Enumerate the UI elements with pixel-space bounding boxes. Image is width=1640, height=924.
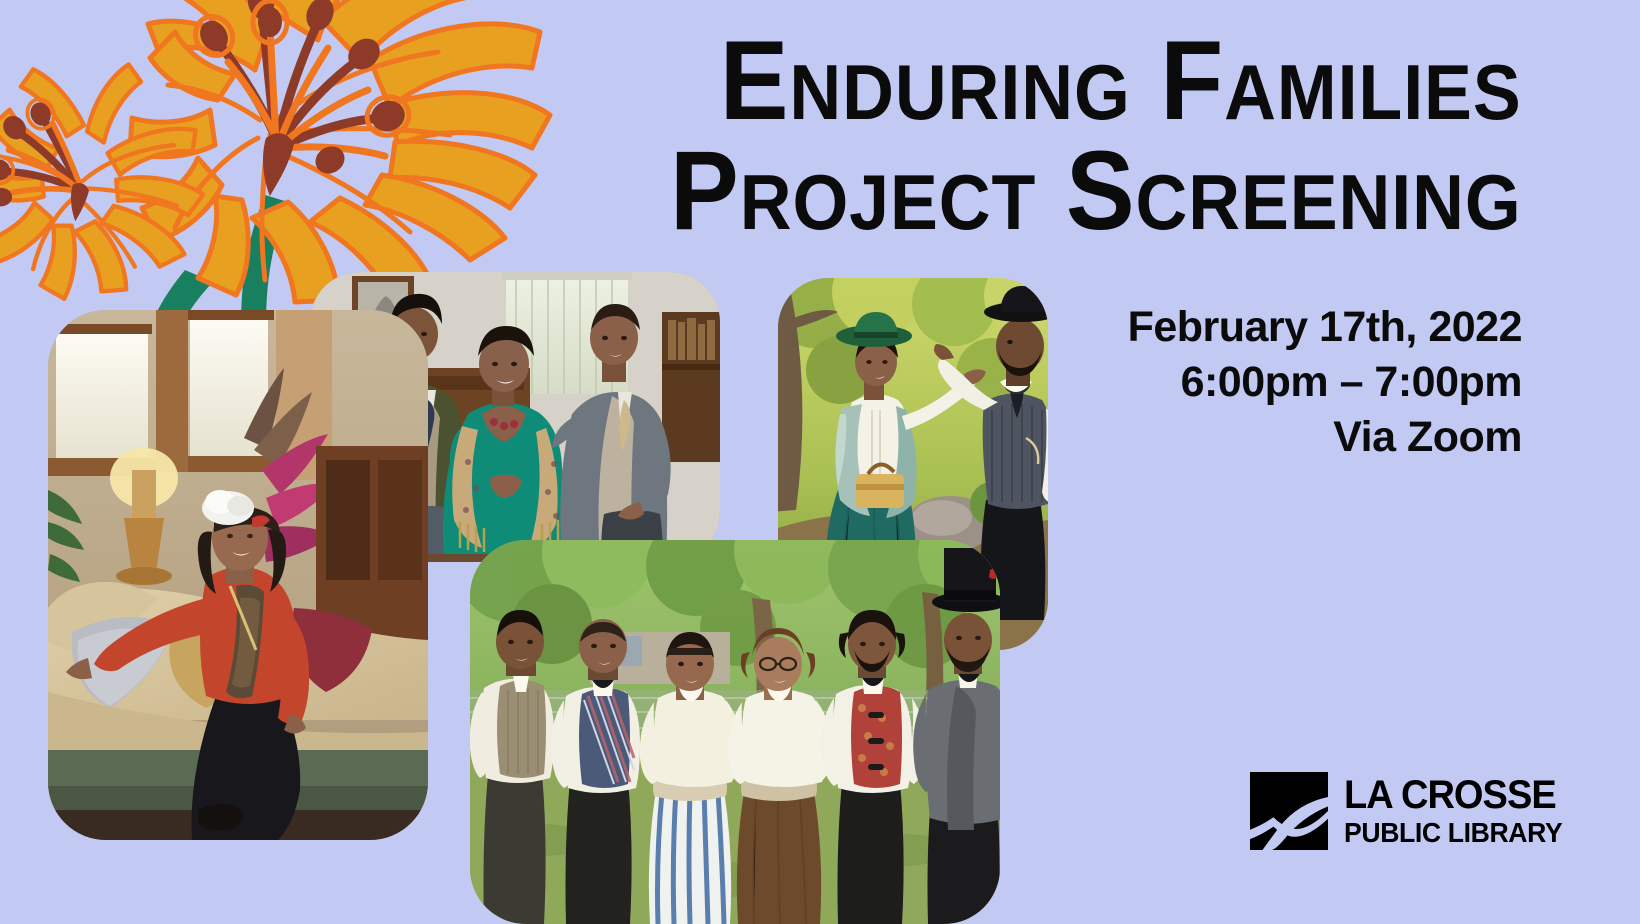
flower-stamens-large xyxy=(188,0,414,196)
library-logo: LA CROSSE PUBLIC LIBRARY xyxy=(1250,772,1574,850)
poster-canvas: Enduring Families Project Screening Febr… xyxy=(0,0,1640,924)
flower-large xyxy=(130,0,550,302)
title-line-2: Project Screening xyxy=(670,136,1522,246)
event-time: 6:00pm – 7:00pm xyxy=(1128,355,1522,410)
logo-name-line-2: PUBLIC LIBRARY xyxy=(1344,819,1562,847)
event-details: February 17th, 2022 6:00pm – 7:00pm Via … xyxy=(1128,300,1522,465)
library-logo-wordmark: LA CROSSE PUBLIC LIBRARY xyxy=(1344,775,1574,847)
event-date: February 17th, 2022 xyxy=(1128,300,1522,355)
flower-small xyxy=(0,64,203,298)
logo-name-line-1: LA CROSSE xyxy=(1344,775,1562,815)
poster-title: Enduring Families Project Screening xyxy=(596,26,1522,246)
photo-woman-on-sofa xyxy=(48,310,428,840)
library-logo-mark-icon xyxy=(1250,772,1328,850)
title-line-1: Enduring Families xyxy=(670,26,1522,136)
event-location: Via Zoom xyxy=(1128,410,1522,465)
photo-group-outdoors xyxy=(470,540,1000,924)
